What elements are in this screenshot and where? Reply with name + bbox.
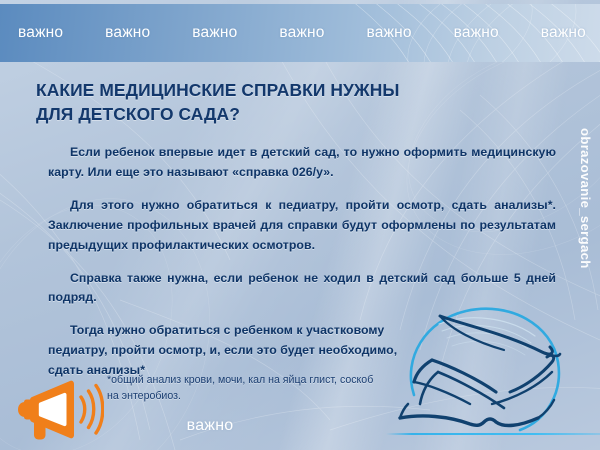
- header-word-7: важно: [541, 24, 586, 42]
- header-word-5: важно: [367, 24, 412, 42]
- header-band: важно важно важно важно важно важно важн…: [0, 4, 600, 62]
- vertical-watermark-text: obrazovanie_sergach: [578, 128, 593, 269]
- header-word-strip: важно важно важно важно важно важно важн…: [0, 4, 600, 62]
- presentation-slide: важно важно важно важно важно важно важн…: [0, 0, 600, 450]
- slide-title: КАКИЕ МЕДИЦИНСКИЕ СПРАВКИ НУЖНЫ ДЛЯ ДЕТС…: [36, 78, 556, 126]
- vertical-watermark: obrazovanie_sergach: [577, 128, 599, 318]
- open-book-emblem-icon: [392, 300, 600, 450]
- header-word-3: важно: [192, 24, 237, 42]
- header-word-2: важно: [105, 24, 150, 42]
- body-paragraph-1: Если ребенок впервые идет в детский сад,…: [48, 143, 556, 183]
- footer-caption: важно: [0, 417, 420, 435]
- footnote-text: *общий анализ крови, мочи, кал на яйца г…: [107, 372, 377, 404]
- header-word-4: важно: [279, 24, 324, 42]
- header-word-6: важно: [454, 24, 499, 42]
- slide-title-line-1: КАКИЕ МЕДИЦИНСКИЕ СПРАВКИ НУЖНЫ: [36, 78, 556, 102]
- slide-title-line-2: ДЛЯ ДЕТСКОГО САДА?: [36, 102, 556, 126]
- header-word-1: важно: [18, 24, 63, 42]
- body-paragraph-2: Для этого нужно обратиться к педиатру, п…: [48, 196, 556, 256]
